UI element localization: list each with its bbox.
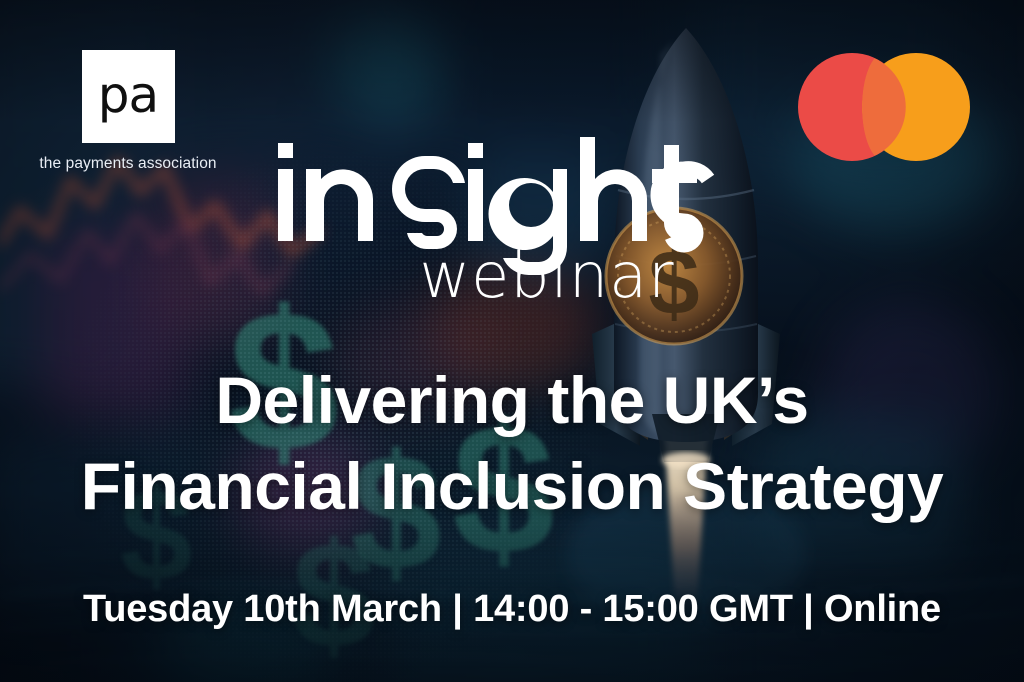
title-line-2: Financial Inclusion Strategy (0, 444, 1024, 530)
mastercard-logo (798, 53, 970, 161)
webinar-promo-banner: $ $ $ $ $ (0, 0, 1024, 682)
webinar-label: webinar (0, 245, 1024, 307)
rocket-illustration: $ (556, 0, 816, 634)
event-details-line: Tuesday 10th March | 14:00 - 15:00 GMT |… (0, 590, 1024, 628)
pa-logo-mark-text: pa (98, 70, 158, 120)
mastercard-overlap-shape (862, 53, 906, 161)
title-line-1: Delivering the UK’s (0, 358, 1024, 444)
pa-logo-tagline: the payments association (28, 155, 228, 173)
payments-association-logo: pa the payments association (28, 50, 228, 173)
insights-wordmark: insights (272, 135, 712, 255)
pa-logo-mark: pa (82, 50, 175, 143)
page-title: Delivering the UK’s Financial Inclusion … (0, 358, 1024, 530)
